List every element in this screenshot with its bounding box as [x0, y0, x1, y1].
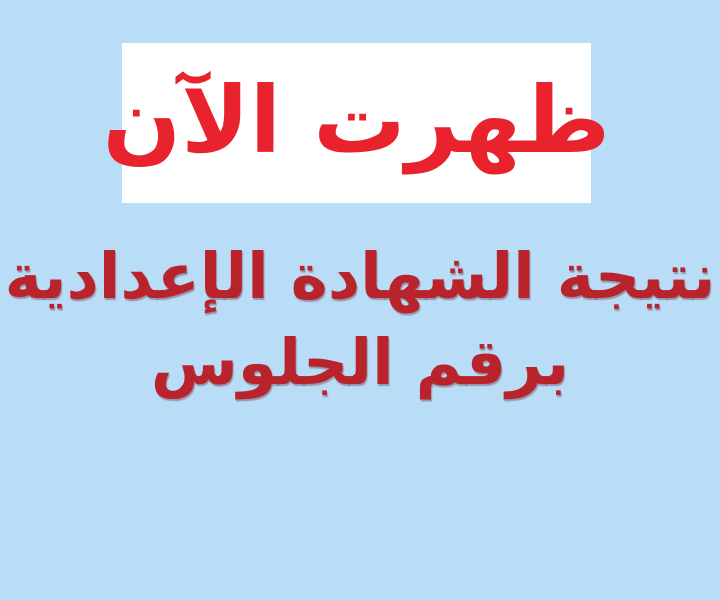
- subheadline-block: نتيجة الشهادة الإعدادية برقم الجلوس: [0, 232, 720, 405]
- headline-banner: ظهرت الآن: [122, 43, 591, 203]
- headline-banner-text: ظهرت الآن: [103, 73, 611, 170]
- subheadline-line-2: برقم الجلوس: [0, 321, 720, 404]
- poster-canvas: ظهرت الآن نتيجة الشهادة الإعدادية برقم ا…: [0, 0, 720, 600]
- subheadline-line-1: نتيجة الشهادة الإعدادية: [0, 232, 720, 321]
